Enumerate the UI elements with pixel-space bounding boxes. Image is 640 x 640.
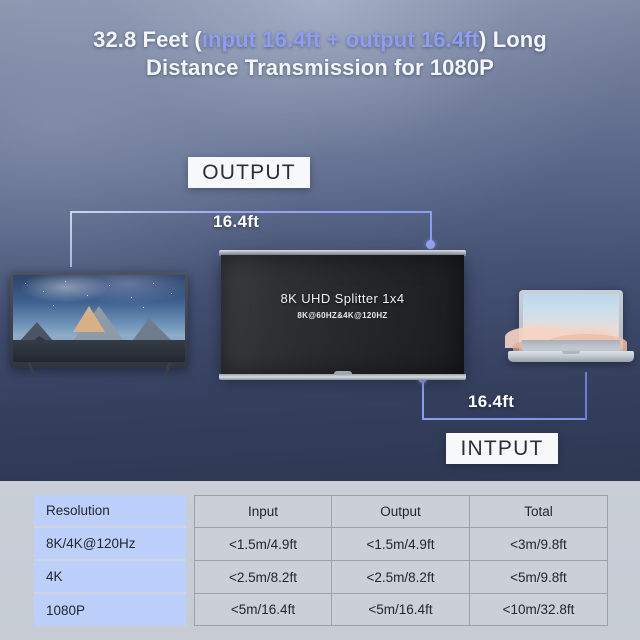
output-connector-vertical-left (70, 211, 72, 267)
distance-label-output: 16.4ft (213, 212, 259, 232)
laptop-trackpad-notch (562, 351, 580, 354)
cell-output: <5m/16.4ft (332, 594, 470, 626)
tv-screen (13, 275, 185, 362)
mountain-peak (73, 306, 105, 332)
spec-table-section: Resolution Input Output Total 8K/4K@120H… (0, 481, 640, 640)
table-row: 8K/4K@120Hz <1.5m/4.9ft <1.5m/4.9ft <3m/… (34, 528, 608, 561)
tv-scene-foreground (13, 340, 185, 362)
headline-highlight: input 16.4ft + output 16.4ft (202, 27, 479, 52)
input-connector-vertical-right (585, 372, 587, 420)
television (10, 272, 188, 376)
cell-total: <3m/9.8ft (470, 528, 608, 561)
input-connector-vertical-left (422, 378, 424, 420)
laptop-keyboard (522, 340, 620, 351)
output-badge: OUTPUT (188, 157, 310, 188)
product-infographic: 32.8 Feet (input 16.4ft + output 16.4ft)… (0, 0, 640, 640)
table-spacer (186, 561, 194, 594)
table-row: 1080P <5m/16.4ft <5m/16.4ft <10m/32.8ft (34, 594, 608, 626)
headline-line-2: Distance Transmission for 1080P (0, 54, 640, 82)
cell-input: <1.5m/4.9ft (194, 528, 332, 561)
headline-suffix: Long (486, 27, 546, 52)
cell-output: <2.5m/8.2ft (332, 561, 470, 594)
table-header-resolution: Resolution (34, 495, 186, 528)
cell-resolution: 4K (34, 561, 186, 594)
input-badge: INTPUT (446, 433, 558, 464)
laptop (508, 290, 634, 372)
cell-output: <1.5m/4.9ft (332, 528, 470, 561)
table-spacer (186, 528, 194, 561)
distance-label-input: 16.4ft (468, 392, 514, 412)
cell-total: <10m/32.8ft (470, 594, 608, 626)
table-header-total: Total (470, 495, 608, 528)
splitter-spec-label: 8K@60HZ&4K@120HZ (221, 311, 464, 320)
headline: 32.8 Feet (input 16.4ft + output 16.4ft)… (0, 26, 640, 82)
table-header-input: Input (194, 495, 332, 528)
cell-resolution: 1080P (34, 594, 186, 626)
tv-bezel (10, 272, 188, 368)
cell-input: <5m/16.4ft (194, 594, 332, 626)
cell-input: <2.5m/8.2ft (194, 561, 332, 594)
spec-table: Resolution Input Output Total 8K/4K@120H… (34, 495, 608, 626)
table-row: 4K <2.5m/8.2ft <2.5m/8.2ft <5m/9.8ft (34, 561, 608, 594)
headline-prefix: 32.8 Feet (93, 27, 194, 52)
table-header-row: Resolution Input Output Total (34, 495, 608, 528)
table-header-output: Output (332, 495, 470, 528)
headline-line-1: 32.8 Feet (input 16.4ft + output 16.4ft)… (0, 26, 640, 54)
splitter-model-label: 8K UHD Splitter 1x4 (221, 291, 464, 306)
input-connector-horizontal (422, 418, 587, 420)
cell-resolution: 8K/4K@120Hz (34, 528, 186, 561)
table-spacer (186, 495, 194, 528)
cell-total: <5m/9.8ft (470, 561, 608, 594)
splitter-bottom-edge (219, 374, 466, 380)
table-spacer (186, 594, 194, 626)
headline-paren-open: ( (194, 27, 201, 52)
splitter-body: 8K UHD Splitter 1x4 8K@60HZ&4K@120HZ (221, 255, 464, 376)
hdmi-splitter-device: 8K UHD Splitter 1x4 8K@60HZ&4K@120HZ (219, 250, 466, 380)
output-connector-dot (426, 240, 435, 249)
